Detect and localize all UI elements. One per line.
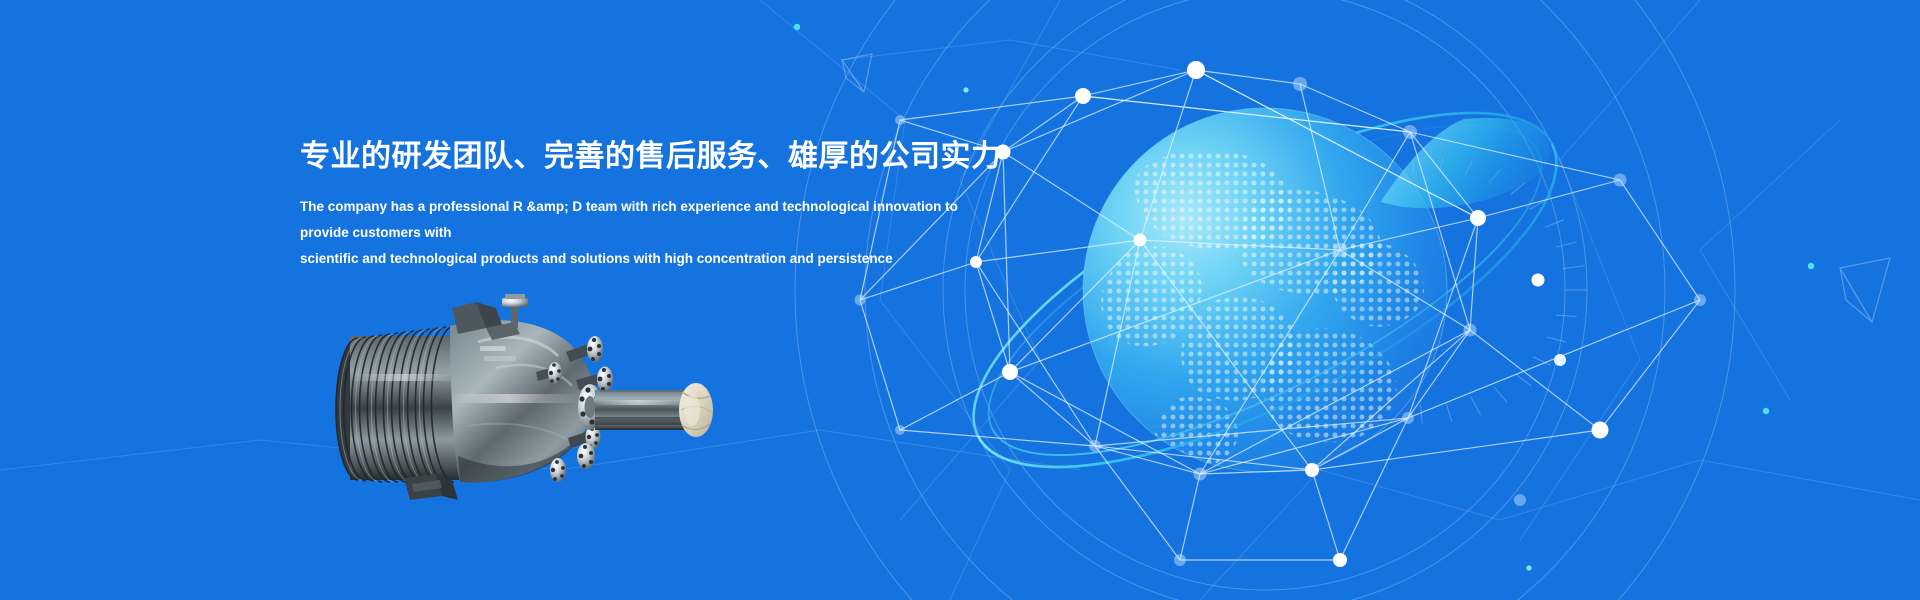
hero-description: The company has a professional R &amp; D… (300, 194, 972, 273)
hero-description-line-1: The company has a professional R &amp; D… (300, 194, 972, 247)
vessel-drive-shaft (578, 383, 713, 437)
radar-scale-arc (795, 0, 1735, 600)
hero-text-block: 专业的研发团队、完善的售后服务、雄厚的公司实力 The company has … (300, 138, 1000, 272)
network-globe (1083, 108, 1447, 472)
hero-description-line-2: scientific and technological products an… (300, 246, 972, 272)
network-node (970, 61, 1609, 567)
background-web-lines (0, 0, 1920, 600)
page-title: 专业的研发团队、完善的售后服务、雄厚的公司实力 (300, 138, 1000, 176)
accent-dot (794, 24, 1814, 571)
orbit-ring-front (978, 144, 1603, 536)
orbit-ring-highlight (1364, 89, 1560, 245)
background-graphic (0, 0, 1920, 600)
hero-banner: 专业的研发团队、完善的售后服务、雄厚的公司实力 The company has … (0, 0, 1920, 600)
network-mesh (794, 24, 1814, 571)
vessel-body (450, 320, 594, 482)
industrial-reactor-vessel-photo (300, 250, 740, 500)
vessel-coil-jacket (336, 326, 462, 482)
orbit-ring-back (927, 44, 1603, 536)
